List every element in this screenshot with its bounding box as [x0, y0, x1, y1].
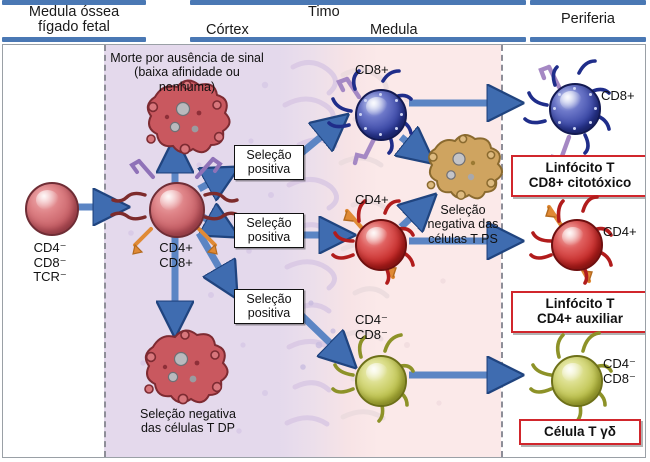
header-thymus-medulla: Medula [370, 22, 418, 38]
diagram-frame: CD4⁻ CD8⁻ TCR⁻ [2, 44, 646, 458]
header-thymus-title: Timo [308, 4, 340, 20]
header-periphery-label: Periferia [530, 12, 646, 27]
label-periph-gd-cd8: CD8⁻ [603, 371, 636, 386]
header-bone-marrow-label: Medula óssea fígado fetal [2, 5, 146, 35]
cell-periphery-gd [551, 355, 603, 407]
header-bar-top [530, 0, 646, 5]
label-periphery-gd: CD4⁻ CD8⁻ [603, 357, 636, 386]
receptors-periph-gd [3, 45, 646, 458]
outcome-gdt-line1: Célula T γδ [544, 424, 616, 439]
header-marrow-line1: Medula óssea [29, 4, 119, 20]
header-thymus: Timo Córtex Medula [190, 0, 526, 42]
header-bar-top [190, 0, 526, 5]
header-thymus-cortex: Córtex [206, 22, 249, 38]
header-bar-bottom [530, 37, 646, 42]
figure-canvas: Medula óssea fígado fetal Timo Córtex Me… [0, 0, 650, 462]
header-periphery: Periferia [530, 0, 646, 42]
header-marrow-line2: fígado fetal [38, 19, 110, 35]
header-bone-marrow: Medula óssea fígado fetal [2, 0, 146, 42]
outcome-box-gamma-delta-t: Célula T γδ [519, 419, 641, 445]
label-periph-gd-cd4: CD4⁻ [603, 356, 636, 371]
header-bar-bottom [2, 37, 146, 42]
